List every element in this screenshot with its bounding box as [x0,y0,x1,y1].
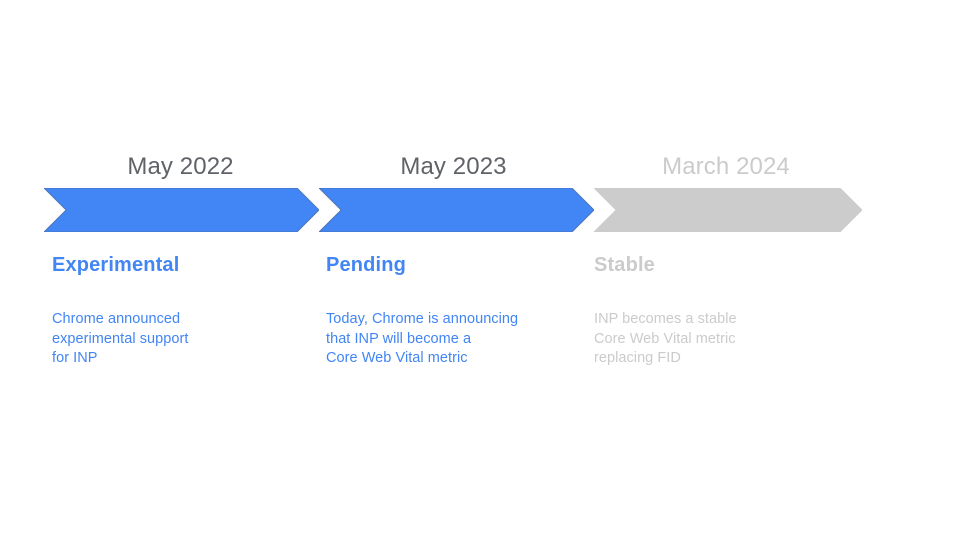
timeline-body-line: that INP will become a [326,330,576,350]
timeline-arrow-band [44,188,862,232]
timeline-date-march-2024: March 2024 [590,150,862,184]
timeline-body-line: for INP [52,349,302,369]
timeline-column-experimental: Experimental Chrome announced experiment… [52,252,302,369]
timeline-body-line: Today, Chrome is announcing [326,310,576,330]
timeline-content-row: Experimental Chrome announced experiment… [52,252,862,392]
timeline-arrow-pending [319,188,594,232]
timeline-arrow-experimental [44,188,319,232]
timeline-body-pending: Today, Chrome is announcing that INP wil… [326,310,576,369]
timeline-body-line: Core Web Vital metric [326,349,576,369]
chevron-arrow-icon [594,188,862,232]
timeline-date-may-2023: May 2023 [317,150,590,184]
timeline-body-line: Chrome announced [52,310,302,330]
chevron-arrow-icon [44,188,319,232]
timeline-body-experimental: Chrome announced experimental support fo… [52,310,302,369]
timeline-diagram: May 2022 May 2023 March 2024 Experimenta… [0,0,960,540]
timeline-heading-pending: Pending [326,252,576,278]
timeline-body-line: INP becomes a stable [594,310,844,330]
timeline-column-stable: Stable INP becomes a stable Core Web Vit… [594,252,844,369]
timeline-date-row: May 2022 May 2023 March 2024 [44,150,862,184]
chevron-arrow-icon [319,188,594,232]
timeline-heading-stable: Stable [594,252,844,278]
timeline-heading-experimental: Experimental [52,252,302,278]
timeline-body-line: Core Web Vital metric [594,330,844,350]
timeline-body-line: experimental support [52,330,302,350]
timeline-date-may-2022: May 2022 [44,150,317,184]
timeline-body-stable: INP becomes a stable Core Web Vital metr… [594,310,844,369]
timeline-body-line: replacing FID [594,349,844,369]
timeline-arrow-stable [594,188,862,232]
timeline-column-pending: Pending Today, Chrome is announcing that… [326,252,576,369]
